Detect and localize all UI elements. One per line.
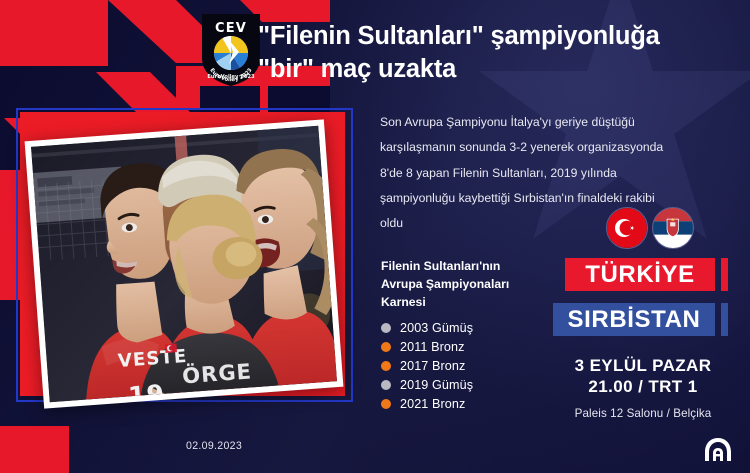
cev-logo-text: CEV — [215, 21, 247, 36]
medal-label: 2017 Bronz — [400, 359, 465, 373]
medal-dot-icon — [381, 361, 391, 371]
decorative-red-block — [0, 426, 69, 473]
match-details: 3 EYLÜL PAZAR 21.00 / TRT 1 Paleis 12 Sa… — [553, 355, 733, 420]
home-team-banner-accent — [721, 258, 728, 291]
medal-dot-icon — [381, 399, 391, 409]
anadolu-agency-logo-icon — [702, 435, 734, 465]
infographic-poster: ÖRGE VESTE 19 CEV — [0, 0, 750, 473]
medal-label: 2003 Gümüş — [400, 321, 473, 335]
medal-dot-icon — [381, 323, 391, 333]
team-photo-frame: ÖRGE VESTE 19 — [25, 119, 344, 408]
list-item: 2011 Bronz — [381, 338, 571, 355]
home-team-banner: TÜRKİYE — [565, 258, 715, 291]
medal-record-section: Filenin Sultanları'nın Avrupa Şampiyonal… — [381, 258, 571, 414]
cev-eurovolley-logo: CEV EuroVolley 2023 EuroVolley 2023 — [196, 8, 266, 88]
match-venue: Paleis 12 Salonu / Belçika — [553, 407, 733, 420]
list-item: 2017 Bronz — [381, 357, 571, 374]
list-item: 2019 Gümüş — [381, 376, 571, 393]
medal-label: 2019 Gümüş — [400, 378, 473, 392]
team-flags — [601, 207, 701, 249]
medal-title-line-1: Filenin Sultanları'nın — [381, 258, 571, 276]
list-item: 2021 Bronz — [381, 395, 571, 412]
medal-dot-icon — [381, 342, 391, 352]
medal-label: 2021 Bronz — [400, 397, 465, 411]
page-title: "Filenin Sultanları" şampiyonluğa "bir" … — [258, 20, 736, 86]
publish-date: 02.09.2023 — [186, 440, 242, 452]
away-team-name: SIRBİSTAN — [568, 306, 701, 334]
match-date: 3 EYLÜL PAZAR — [553, 355, 733, 376]
svg-text:EuroVolley 2023: EuroVolley 2023 — [207, 74, 255, 80]
serbia-flag-icon — [652, 207, 694, 249]
medal-title-line-2: Avrupa Şampiyonaları — [381, 276, 571, 294]
home-team-name: TÜRKİYE — [585, 261, 695, 289]
medal-title-line-3: Karnesi — [381, 294, 571, 312]
list-item: 2003 Gümüş — [381, 319, 571, 336]
headline-line-2: "bir" maç uzakta — [258, 53, 736, 86]
medal-list: 2003 Gümüş 2011 Bronz 2017 Bronz 2019 Gü… — [381, 319, 571, 412]
medal-dot-icon — [381, 380, 391, 390]
medal-record-title: Filenin Sultanları'nın Avrupa Şampiyonal… — [381, 258, 571, 311]
away-team-banner: SIRBİSTAN — [553, 303, 715, 336]
team-photo: ÖRGE VESTE 19 — [31, 126, 337, 402]
medal-label: 2011 Bronz — [400, 340, 464, 354]
match-time-channel: 21.00 / TRT 1 — [553, 376, 733, 397]
turkey-flag-icon — [606, 207, 648, 249]
headline-line-1: "Filenin Sultanları" şampiyonluğa — [258, 22, 660, 50]
away-team-banner-accent — [721, 303, 728, 336]
